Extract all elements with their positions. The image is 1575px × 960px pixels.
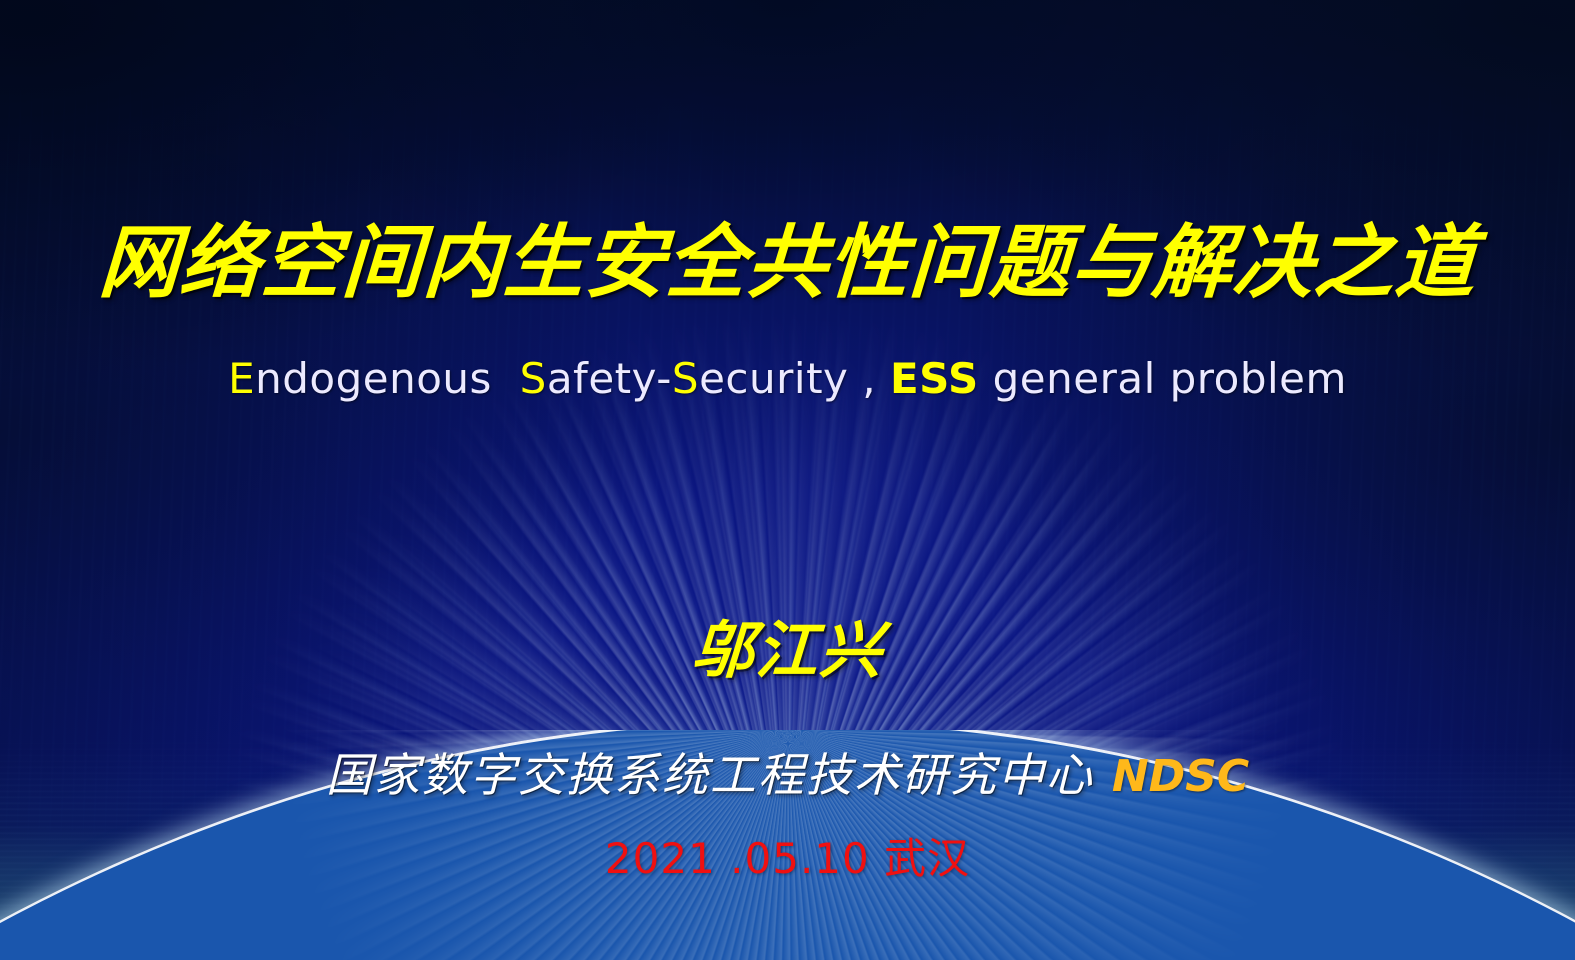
presentation-slide: 网络空间内生安全共性问题与解决之道 Endogenous Safety-Secu… [0, 0, 1575, 960]
slide-title: 网络空间内生安全共性问题与解决之道 [0, 222, 1575, 302]
affiliation-organization: 国家数字交换系统工程技术研究中心 [326, 748, 1094, 802]
subtitle-initial-s1: S [520, 354, 547, 403]
subtitle-ess-acronym: ESS [890, 354, 979, 403]
slide-content: 网络空间内生安全共性问题与解决之道 Endogenous Safety-Secu… [0, 0, 1575, 960]
subtitle-ecurity: ecurity [699, 354, 848, 403]
subtitle-endogenous-rest: ndogenous [255, 354, 492, 403]
subtitle-space-1 [492, 354, 520, 403]
date-location: 2021 .05.10 武汉 [0, 838, 1575, 880]
subtitle-comma: , [848, 354, 890, 403]
subtitle-initial-s2: S [672, 354, 699, 403]
author-name: 邬江兴 [0, 620, 1575, 682]
affiliation-line: 国家数字交换系统工程技术研究中心NDSC [0, 752, 1575, 799]
subtitle-afety: afety- [547, 354, 672, 403]
subtitle-initial-e: E [228, 354, 255, 403]
affiliation-abbreviation: NDSC [1094, 751, 1249, 802]
slide-subtitle: Endogenous Safety-Security , ESS general… [0, 356, 1575, 402]
subtitle-tail: general problem [979, 354, 1347, 403]
